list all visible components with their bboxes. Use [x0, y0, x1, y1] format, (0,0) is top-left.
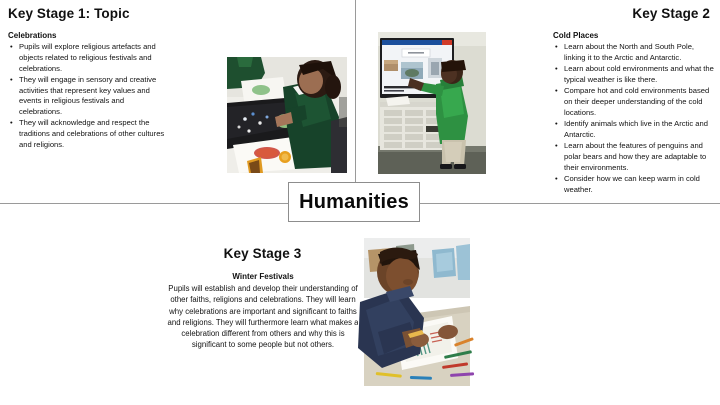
- key-stage-1-photo: [227, 57, 347, 173]
- list-item-text: They will acknowledge and respect the tr…: [19, 118, 164, 149]
- slide-canvas: Key Stage 1: Topic Celebrations • Pupils…: [0, 0, 720, 405]
- list-item-text: Learn about the features of penguins and…: [564, 141, 706, 172]
- list-item: • Learn about cold environments and what…: [553, 64, 716, 86]
- key-stage-3-photo: [358, 236, 476, 386]
- bullet-icon: •: [555, 119, 558, 130]
- key-stage-3-heading: Key Stage 3: [165, 246, 360, 261]
- pupil-writing-illustration: [358, 236, 476, 386]
- bullet-icon: •: [555, 141, 558, 152]
- key-stage-1-content: Celebrations • Pupils will explore relig…: [8, 31, 168, 151]
- key-stage-2-heading: Key Stage 2: [632, 6, 710, 21]
- key-stage-2-bullet-list: • Learn about the North and South Pole, …: [553, 42, 716, 195]
- key-stage-1-bullet-list: • Pupils will explore religious artefact…: [8, 42, 168, 151]
- list-item-text: Pupils will explore religious artefacts …: [19, 42, 156, 73]
- bullet-icon: •: [10, 75, 13, 86]
- list-item: • They will engage in sensory and creati…: [8, 75, 168, 118]
- bullet-icon: •: [555, 64, 558, 75]
- list-item-text: Learn about the North and South Pole, li…: [564, 42, 694, 62]
- list-item: • Compare hot and cold environments base…: [553, 86, 716, 118]
- bullet-icon: •: [555, 42, 558, 53]
- vertical-divider: [355, 0, 356, 203]
- bullet-icon: •: [10, 42, 13, 53]
- key-stage-3-body-text: Pupils will establish and develop their …: [163, 283, 363, 351]
- key-stage-2-subheading: Cold Places: [553, 31, 716, 41]
- list-item: • Learn about the features of penguins a…: [553, 141, 716, 173]
- bullet-icon: •: [10, 118, 13, 129]
- center-title-box: Humanities: [288, 182, 420, 222]
- list-item: • Identify animals which live in the Arc…: [553, 119, 716, 141]
- interactive-whiteboard-illustration: [374, 28, 490, 174]
- list-item-text: They will engage in sensory and creative…: [19, 75, 156, 116]
- bullet-icon: •: [555, 86, 558, 97]
- list-item-text: Learn about cold environments and what t…: [564, 64, 714, 84]
- page-title: Humanities: [299, 191, 409, 214]
- list-item-text: Consider how we can keep warm in cold we…: [564, 174, 700, 194]
- list-item: • Pupils will explore religious artefact…: [8, 42, 168, 74]
- key-stage-2-content: Cold Places • Learn about the North and …: [553, 31, 716, 196]
- list-item: • Learn about the North and South Pole, …: [553, 42, 716, 64]
- list-item-text: Identify animals which live in the Arcti…: [564, 119, 708, 139]
- list-item-text: Compare hot and cold environments based …: [564, 86, 709, 117]
- key-stage-1-heading: Key Stage 1: Topic: [8, 6, 130, 21]
- bullet-icon: •: [555, 174, 558, 185]
- key-stage-2-photo: [374, 28, 490, 174]
- craft-activity-illustration: [227, 57, 347, 173]
- list-item: • Consider how we can keep warm in cold …: [553, 174, 716, 196]
- key-stage-3-content: Winter Festivals Pupils will establish a…: [163, 272, 363, 351]
- list-item: • They will acknowledge and respect the …: [8, 118, 168, 150]
- key-stage-1-subheading: Celebrations: [8, 31, 168, 41]
- key-stage-3-subheading: Winter Festivals: [163, 272, 363, 282]
